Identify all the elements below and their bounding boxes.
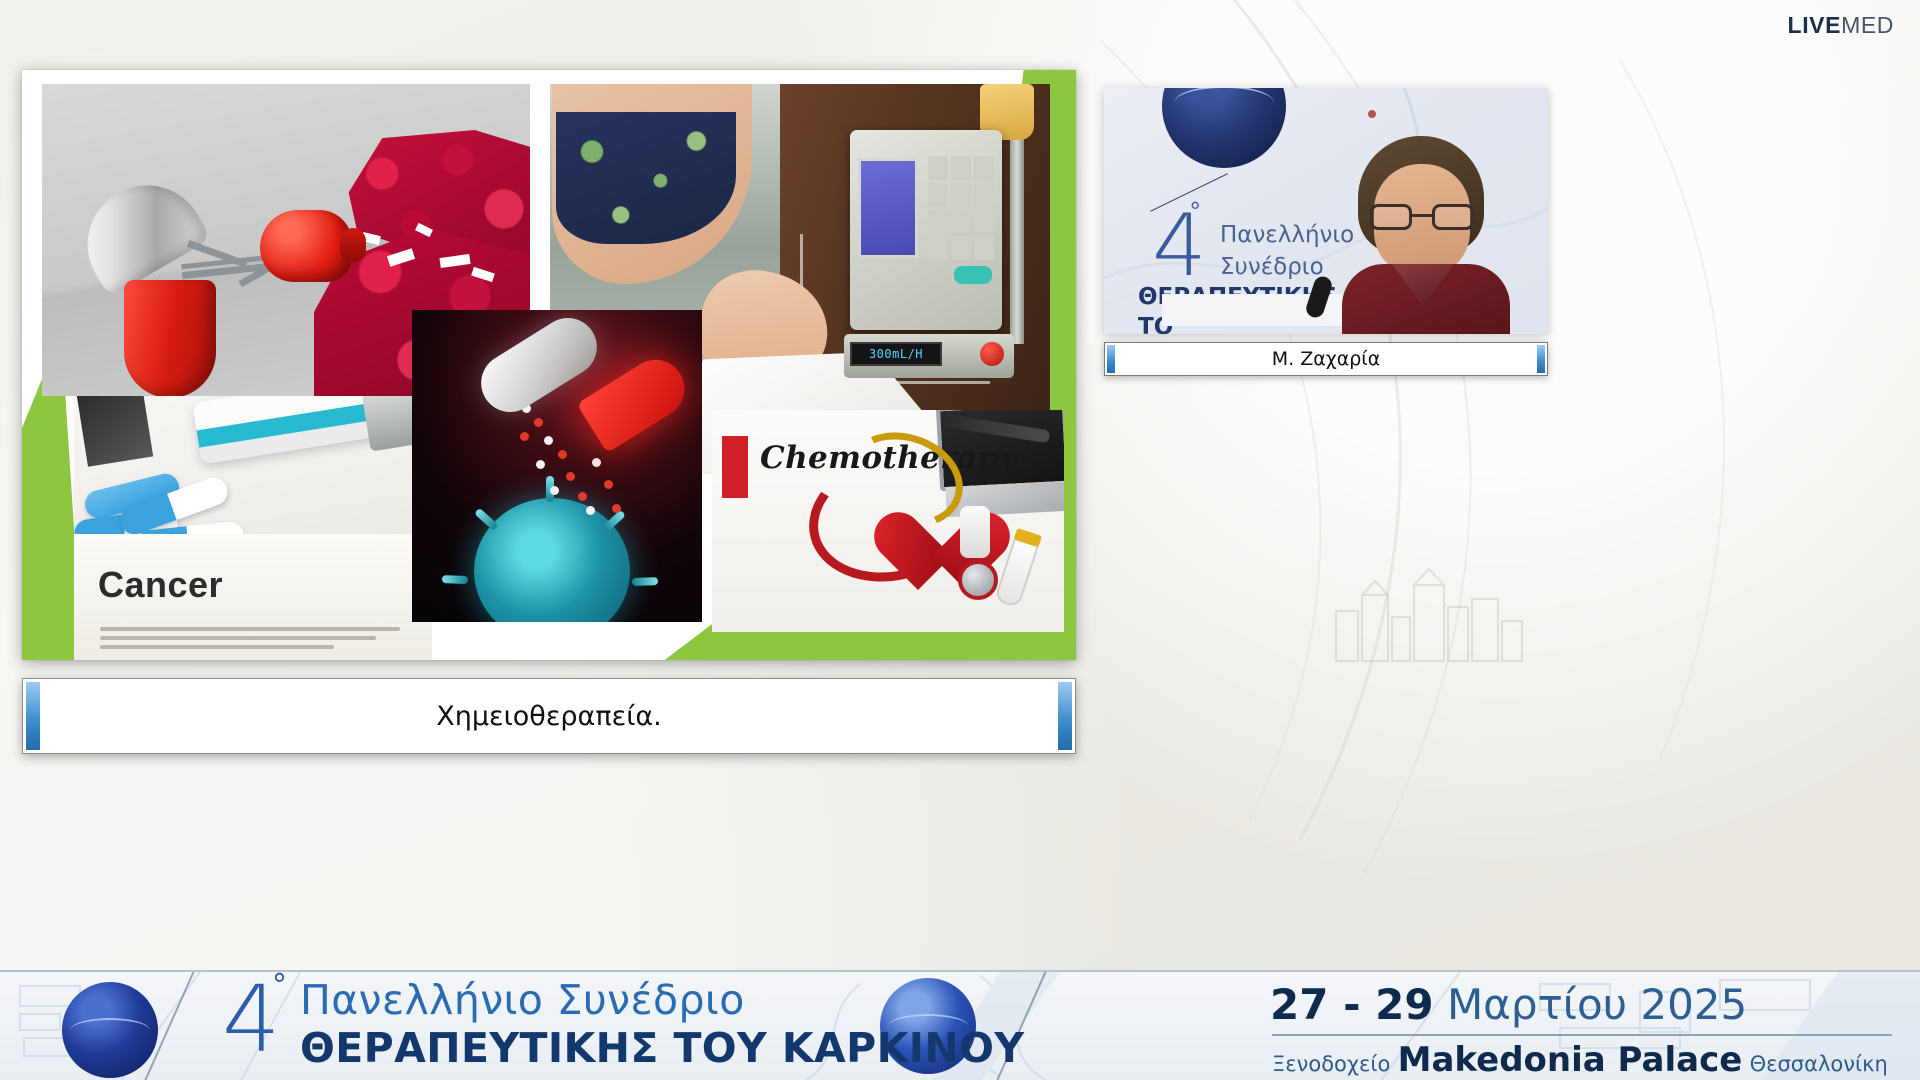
pump-stop-button-icon [980, 342, 1004, 366]
footer-venue-prefix: Ξενοδοχείο [1272, 1052, 1390, 1076]
livemed-logo: LIVEMED [1788, 14, 1894, 37]
background-cityscape-icon [1330, 555, 1530, 665]
image-chemotherapy-card-with-stethoscope: Chemotherapy [712, 410, 1064, 632]
image-capsule-pouring-beads-onto-virus [412, 310, 702, 622]
eyeglasses-icon [1370, 204, 1474, 230]
backdrop-line2: Συνέδριο [1220, 254, 1324, 280]
footer-degree-symbol: ° [272, 970, 287, 1003]
footer-dates: 27 - 29 Μαρτίου 2025 [1270, 980, 1747, 1029]
image-capsules-vial-syringe-cancer-paper: Cancer [74, 396, 432, 660]
slide-caption-text: Χημειοθεραπεία. [436, 701, 661, 732]
caption-resize-handle-right[interactable] [1058, 682, 1072, 750]
speaker-name-text: Μ. Ζαχαρία [1272, 348, 1381, 370]
logo-med-text: MED [1841, 12, 1894, 38]
slide-caption-bar[interactable]: Χημειοθεραπεία. [22, 678, 1076, 754]
cancer-paper-body-lines [100, 627, 400, 654]
backdrop-degree-symbol: ° [1190, 196, 1200, 227]
name-resize-handle-left[interactable] [1107, 345, 1115, 373]
speaker-video-feed[interactable]: 4 ° Πανελλήνιο Συνέδριο ΘΕΡΑΠΕΥΤΙΚΗΣ ΤΟ [1104, 88, 1548, 334]
logo-live-text: LIVE [1788, 12, 1842, 38]
footer-venue-name: Makedonia Palace [1398, 1040, 1743, 1080]
slide-content-area: 300mL/H Cancer [22, 70, 1076, 660]
footer-dates-month-year: Μαρτίου 2025 [1447, 980, 1747, 1029]
infusion-pump-rate-display: 300mL/H [850, 342, 942, 366]
footer-venue-city: Θεσσαλονίκη [1750, 1052, 1888, 1076]
footer-conference-line1: Πανελλήνιο Συνέδριο [300, 976, 745, 1024]
footer-venue: Ξενοδοχείο Makedonia Palace Θεσσαλονίκη [1272, 1040, 1888, 1080]
name-resize-handle-right[interactable] [1537, 345, 1545, 373]
footer-globe-icon-left [62, 982, 158, 1078]
heart-icon [872, 514, 964, 600]
caption-resize-handle-left[interactable] [26, 682, 40, 750]
speaker-figure [1314, 136, 1548, 334]
footer-dates-range: 27 - 29 [1270, 980, 1434, 1029]
speaker-name-bar[interactable]: Μ. Ζαχαρία [1104, 342, 1548, 376]
footer-divider [1272, 1034, 1892, 1036]
footer-conference-line2: ΘΕΡΑΠΕΥΤΙΚΗΣ ΤΟΥ ΚΑΡΚΙΝΟΥ [300, 1024, 1024, 1072]
presentation-slide[interactable]: 300mL/H Cancer [22, 70, 1076, 660]
conference-footer-banner: 4 ° Πανελλήνιο Συνέδριο ΘΕΡΑΠΕΥΤΙΚΗΣ ΤΟΥ… [0, 970, 1920, 1080]
stethoscope-chestpiece-icon [958, 560, 998, 600]
cancer-paper-heading: Cancer [98, 564, 223, 606]
